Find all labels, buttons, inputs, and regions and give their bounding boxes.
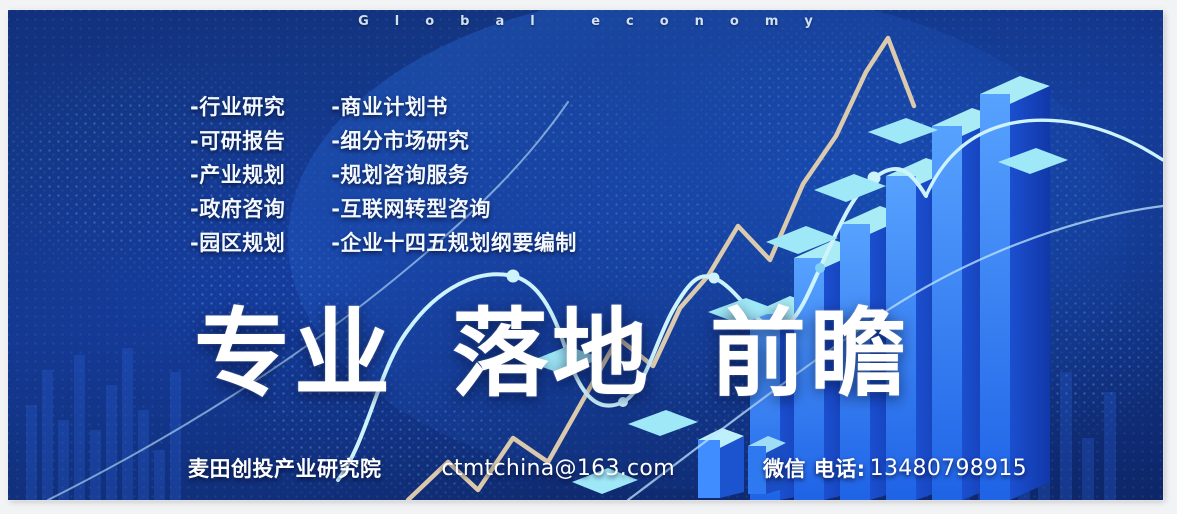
node-dot [709,273,720,284]
service-item: -规划咨询服务 [331,162,577,189]
contact-phone[interactable]: 13480798915 [870,456,1027,481]
banner-canvas: Global economy -行业研究 -可研报告 -产业规划 -政府咨询 -… [0,0,1177,514]
service-item: -企业十四五规划纲要编制 [331,230,577,257]
service-item: -细分市场研究 [331,128,577,155]
service-item: -政府咨询 [190,196,285,223]
node-dot [815,263,825,273]
service-item: -互联网转型咨询 [331,196,577,223]
chart-illustration [8,10,1163,500]
headline: 专业 落地 前瞻 [194,306,910,402]
headline-word: 落地 [452,306,652,402]
service-item: -行业研究 [190,94,285,121]
contact-email[interactable]: ctmtchina@163.com [442,456,675,481]
wechat-phone-label: 微信 电话: [763,453,866,483]
kicker-text: Global economy [8,14,1163,29]
service-item: -商业计划书 [331,94,577,121]
service-list-left: -行业研究 -可研报告 -产业规划 -政府咨询 -园区规划 [190,94,285,256]
contact-bar: 麦田创投产业研究院 ctmtchina@163.com 微信 电话: 13480… [188,453,1027,483]
node-dot [507,270,520,283]
marketing-banner: Global economy -行业研究 -可研报告 -产业规划 -政府咨询 -… [8,10,1163,500]
service-item: -可研报告 [190,128,285,155]
headline-word: 专业 [194,306,394,402]
service-lists: -行业研究 -可研报告 -产业规划 -政府咨询 -园区规划 -商业计划书 -细分… [190,94,577,256]
headline-word: 前瞻 [710,306,910,402]
service-list-right: -商业计划书 -细分市场研究 -规划咨询服务 -互联网转型咨询 -企业十四五规划… [331,94,577,256]
organization-name: 麦田创投产业研究院 [188,453,382,483]
service-item: -园区规划 [190,230,285,257]
service-item: -产业规划 [190,162,285,189]
